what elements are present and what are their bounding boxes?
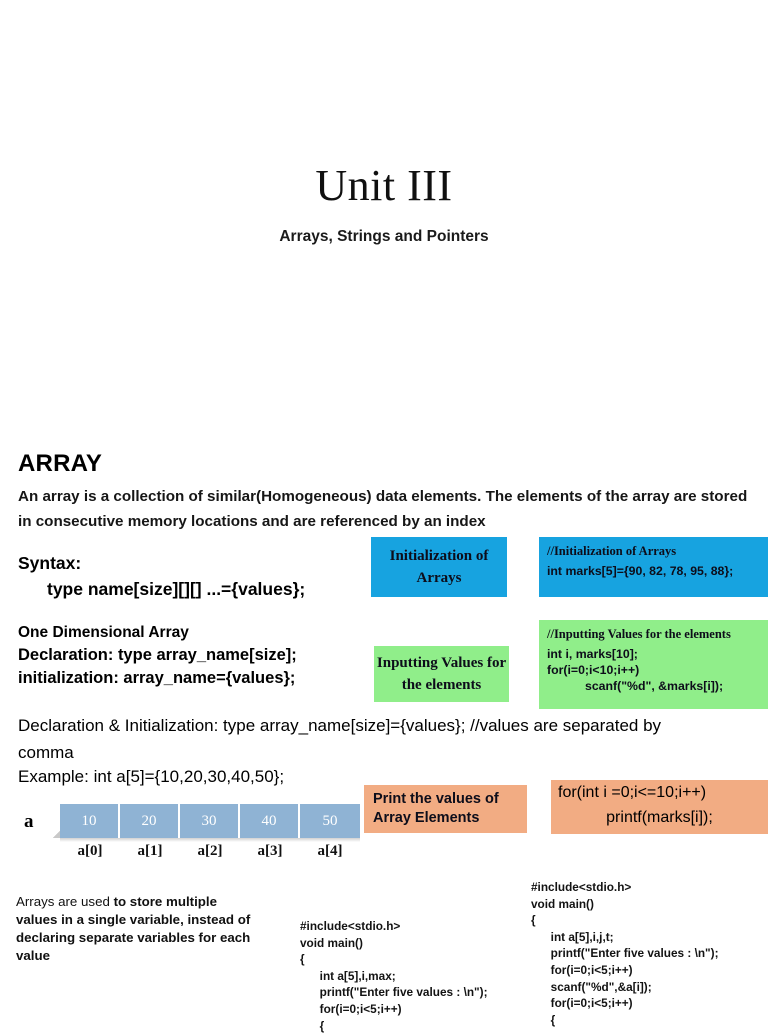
callout-inputting-label-text: Inputting Values for the elements [374, 646, 509, 702]
callout-initialization-label-text: Initialization of Arrays [371, 537, 507, 597]
array-cell: 30 [180, 804, 240, 838]
one-dimensional-array-title: One Dimensional Array [18, 624, 189, 642]
callout-initialization-label: Initialization of Arrays [371, 537, 507, 597]
example-line: Example: int a[5]={10,20,30,40,50}; [18, 767, 284, 787]
array-index-label: a[3] [240, 843, 300, 860]
callout-inputting-comment: //Inputting Values for the elements [547, 627, 760, 642]
callout-initialization-code-line: int marks[5]={90, 82, 78, 95, 88}; [547, 563, 760, 579]
code-block-middle: #include<stdio.h> void main() { int a[5]… [300, 918, 488, 1034]
one-dimensional-initialization: initialization: array_name={values}; [18, 669, 295, 688]
callout-initialization-code: //Initialization of Arrays int marks[5]=… [539, 537, 768, 597]
callout-print-code-line-1: for(int i =0;i<=10;i++) [551, 780, 768, 805]
array-cells-shadow [60, 838, 360, 842]
callout-print-label-line-2: Array Elements [364, 809, 536, 828]
array-index-label: a[4] [300, 843, 360, 860]
callout-print-label: Print the values of Array Elements [364, 785, 527, 833]
callout-initialization-comment: //Initialization of Arrays [547, 544, 760, 559]
declaration-and-initialization-text: Declaration & Initialization: type array… [18, 712, 718, 766]
callout-inputting-code-line-3: scanf("%d", &marks[i]); [547, 678, 760, 694]
one-dimensional-declaration: Declaration: type array_name[size]; [18, 646, 297, 665]
array-cells-row: 10 20 30 40 50 [60, 804, 360, 838]
array-intro-paragraph: An array is a collection of similar(Homo… [18, 484, 758, 534]
array-cell: 20 [120, 804, 180, 838]
callout-print-label-line-1: Print the values of [364, 790, 536, 809]
page-subtitle: Arrays, Strings and Pointers [0, 228, 768, 246]
code-block-right: #include<stdio.h> void main() { int a[5]… [531, 879, 719, 1028]
array-index-label: a[0] [60, 843, 120, 860]
callout-inputting-label: Inputting Values for the elements [374, 646, 509, 702]
callout-inputting-code: //Inputting Values for the elements int … [539, 620, 768, 709]
arrays-usage-note-regular: Arrays are used [16, 894, 114, 909]
syntax-label: Syntax: [18, 553, 81, 574]
array-index-label: a[2] [180, 843, 240, 860]
callout-print-code-line-2: printf(marks[i]); [551, 805, 768, 830]
callout-print-code: for(int i =0;i<=10;i++) printf(marks[i])… [551, 780, 768, 834]
arrays-usage-note: Arrays are used to store multiple values… [16, 893, 261, 965]
array-cell: 10 [60, 804, 120, 838]
array-cell: 40 [240, 804, 300, 838]
callout-inputting-code-line-2: for(i=0;i<10;i++) [547, 662, 760, 678]
syntax-line: type name[size][][] ...={values}; [47, 579, 305, 600]
callout-inputting-code-line-1: int i, marks[10]; [547, 646, 760, 662]
slide-page: Unit III Arrays, Strings and Pointers AR… [0, 0, 768, 1024]
array-cell: 50 [300, 804, 360, 838]
array-variable-label: a [24, 811, 34, 833]
page-title: Unit III [0, 160, 768, 212]
array-index-row: a[0] a[1] a[2] a[3] a[4] [60, 843, 360, 860]
section-heading-array: ARRAY [18, 450, 102, 478]
callout-print-label-wrap: Print the values of Array Elements [364, 785, 527, 833]
array-index-label: a[1] [120, 843, 180, 860]
